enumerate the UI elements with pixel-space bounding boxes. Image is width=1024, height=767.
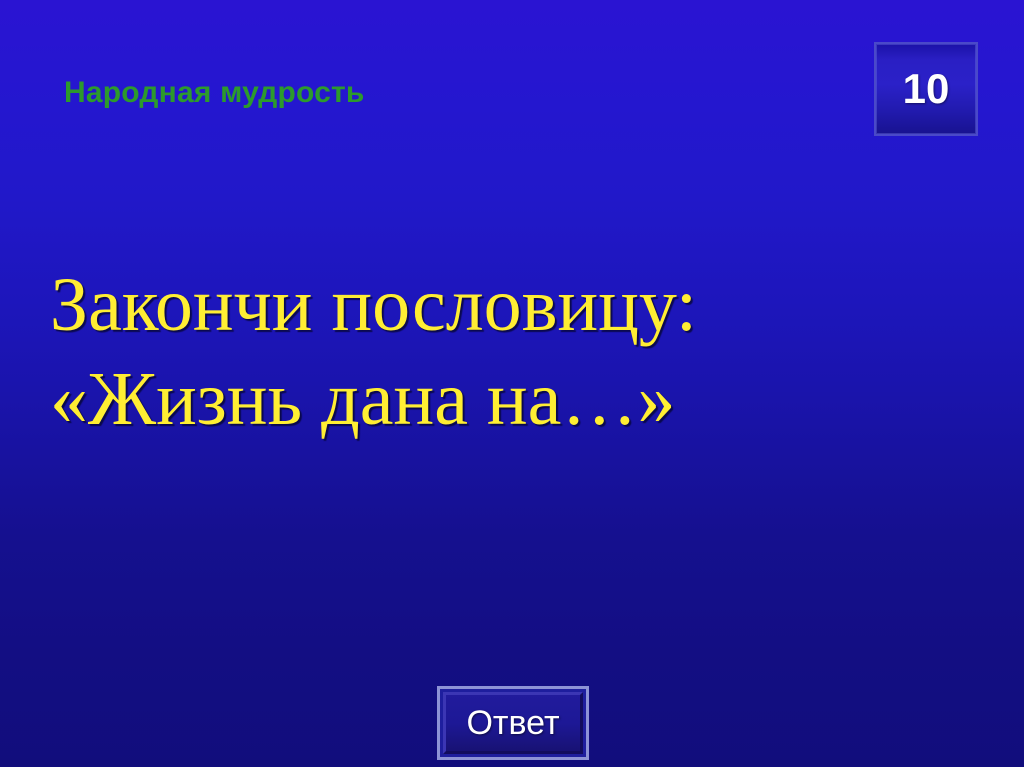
question-line-2: «Жизнь дана на…»: [50, 352, 950, 446]
question-text: Закончи пословицу: «Жизнь дана на…»: [50, 258, 950, 446]
question-line-1: Закончи пословицу:: [50, 258, 950, 352]
points-badge: 10: [874, 42, 978, 136]
answer-button-label: Ответ: [466, 706, 559, 740]
category-title: Народная мудрость: [64, 76, 365, 110]
answer-button-bevel: Ответ: [443, 692, 583, 754]
points-value: 10: [903, 68, 950, 110]
question-slide: Народная мудрость 10 Закончи пословицу: …: [0, 0, 1024, 767]
answer-button[interactable]: Ответ: [437, 686, 589, 760]
